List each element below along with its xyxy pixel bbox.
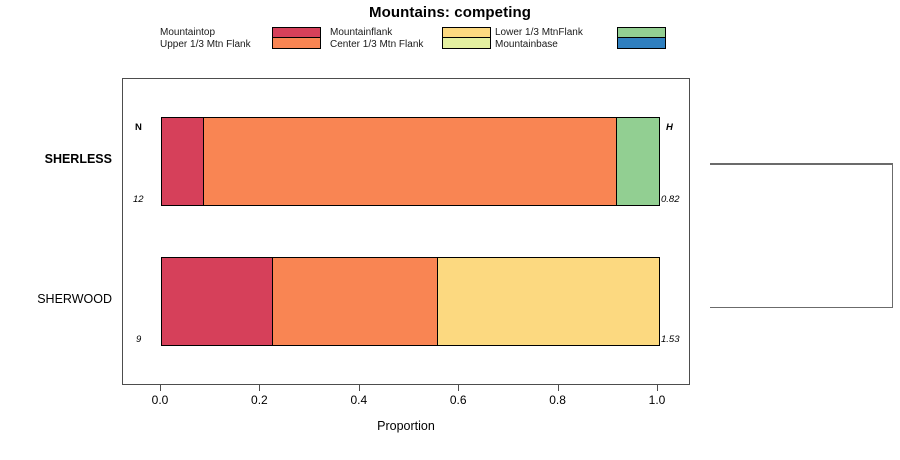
x-tick-label: 0.0	[140, 393, 180, 407]
n-value-sherless: 12	[133, 194, 144, 205]
stacked-bar-sherwood[interactable]	[161, 257, 660, 346]
legend-swatch-lower-third-mtn-flank	[617, 27, 666, 38]
n-column-header: N	[135, 122, 142, 133]
legend-swatch-mountainbase	[617, 38, 666, 49]
row-label-sherless: SHERLESS	[0, 152, 112, 166]
dendrogram-bracket	[710, 163, 893, 308]
h-value-sherwood: 1.53	[661, 334, 680, 345]
legend-swatch-upper-third-mtn-flank	[272, 38, 321, 49]
chart-title: Mountains: competing	[0, 4, 900, 21]
row-label-sherwood: SHERWOOD	[0, 292, 112, 306]
bar-segment-mountainflank[interactable]	[438, 258, 659, 345]
x-tick-mark	[259, 385, 260, 391]
legend-swatch-mountainflank	[442, 27, 491, 38]
legend-column-1: Mountaintop Upper 1/3 Mtn Flank	[160, 27, 328, 57]
x-axis-title: Proportion	[122, 419, 690, 433]
plot-area	[122, 78, 690, 385]
legend-labels-1: Mountaintop Upper 1/3 Mtn Flank	[160, 27, 251, 51]
legend-swatches-1	[272, 27, 321, 49]
h-value-sherless: 0.82	[661, 194, 680, 205]
x-tick-mark	[359, 385, 360, 391]
x-tick-label: 0.8	[538, 393, 578, 407]
x-tick-label: 0.4	[339, 393, 379, 407]
x-tick-label: 0.6	[438, 393, 478, 407]
bar-segment-upper-1-3-mtn-flank[interactable]	[273, 258, 438, 345]
chart-legend: Mountaintop Upper 1/3 Mtn Flank Mountain…	[160, 27, 680, 57]
legend-labels-2: Mountainflank Center 1/3 Mtn Flank	[330, 27, 423, 51]
n-value-sherwood: 9	[136, 334, 141, 345]
legend-label-upper-third-mtn-flank: Upper 1/3 Mtn Flank	[160, 39, 251, 51]
stacked-bar-sherless[interactable]	[161, 117, 660, 206]
dendrogram-bottom-arm	[710, 307, 893, 309]
legend-swatches-3	[617, 27, 666, 49]
legend-label-lower-third-mtn-flank: Lower 1/3 MtnFlank	[495, 27, 583, 39]
legend-label-mountaintop: Mountaintop	[160, 27, 251, 39]
x-axis: 0.00.20.40.60.81.0 Proportion	[122, 385, 690, 445]
bar-segment-mountaintop[interactable]	[162, 258, 273, 345]
legend-column-3: Lower 1/3 MtnFlank Mountainbase	[495, 27, 675, 57]
x-tick-mark	[558, 385, 559, 391]
legend-column-2: Mountainflank Center 1/3 Mtn Flank	[330, 27, 498, 57]
x-tick-mark	[160, 385, 161, 391]
legend-label-center-third-mtn-flank: Center 1/3 Mtn Flank	[330, 39, 423, 51]
legend-label-mountainbase: Mountainbase	[495, 39, 583, 51]
legend-label-mountainflank: Mountainflank	[330, 27, 423, 39]
x-tick-label: 1.0	[637, 393, 677, 407]
legend-swatch-center-third-mtn-flank	[442, 38, 491, 49]
legend-swatch-mountaintop	[272, 27, 321, 38]
bar-segment-lower-1-3-mtnflank[interactable]	[617, 118, 659, 205]
x-tick-mark	[458, 385, 459, 391]
bar-segment-upper-1-3-mtn-flank[interactable]	[204, 118, 617, 205]
dendrogram-top-arm	[710, 163, 893, 165]
bar-segment-mountaintop[interactable]	[162, 118, 204, 205]
dendrogram-spine	[892, 163, 894, 308]
legend-swatches-2	[442, 27, 491, 49]
x-tick-label: 0.2	[239, 393, 279, 407]
legend-labels-3: Lower 1/3 MtnFlank Mountainbase	[495, 27, 583, 51]
h-column-header: H	[666, 122, 673, 133]
x-tick-mark	[657, 385, 658, 391]
